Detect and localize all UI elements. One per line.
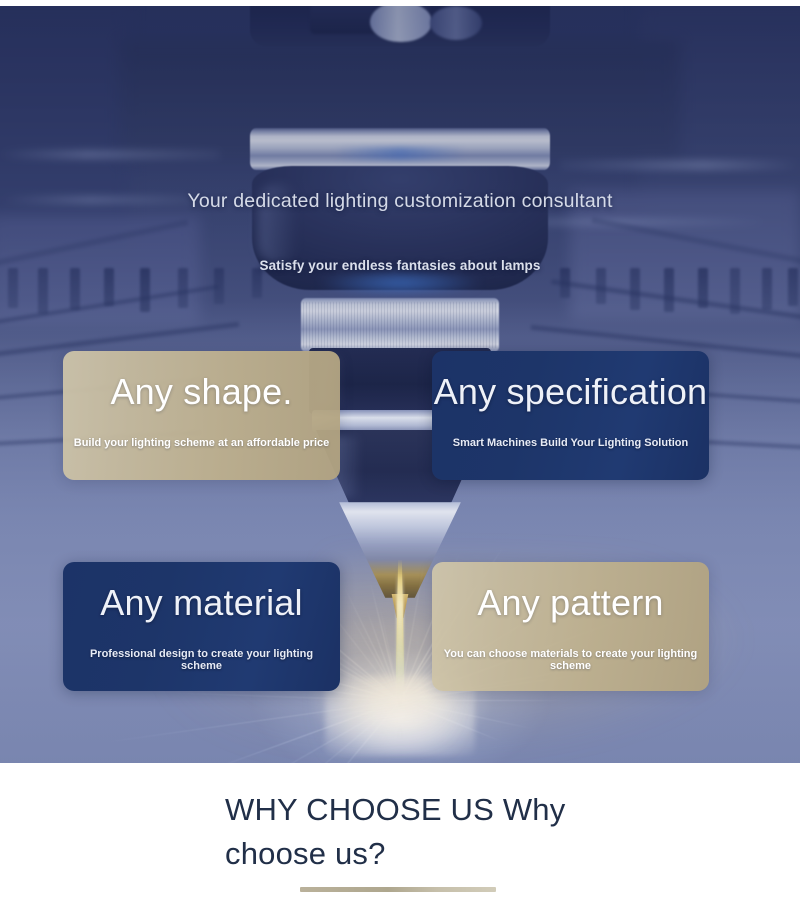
top-white-strip <box>0 0 800 6</box>
feature-card-desc: Professional design to create your light… <box>73 648 330 672</box>
page-root: Your dedicated lighting customization co… <box>0 0 800 900</box>
feature-card-title: Any shape. <box>63 374 340 410</box>
why-choose-us-heading: WHY CHOOSE US Why choose us? <box>225 788 645 876</box>
feature-card-grid: Any shape. Build your lighting scheme at… <box>0 0 800 763</box>
feature-card-any-shape[interactable]: Any shape. Build your lighting scheme at… <box>63 351 340 480</box>
feature-card-desc: Smart Machines Build Your Lighting Solut… <box>442 437 699 449</box>
feature-card-desc: You can choose materials to create your … <box>442 648 699 672</box>
section-divider-rule <box>300 887 496 892</box>
why-choose-us-section: WHY CHOOSE US Why choose us? <box>0 763 800 900</box>
feature-card-any-material[interactable]: Any material Professional design to crea… <box>63 562 340 691</box>
feature-card-desc: Build your lighting scheme at an afforda… <box>73 437 330 449</box>
feature-card-any-specification[interactable]: Any specification Smart Machines Build Y… <box>432 351 709 480</box>
feature-card-title: Any pattern <box>432 585 709 621</box>
feature-card-any-pattern[interactable]: Any pattern You can choose materials to … <box>432 562 709 691</box>
hero-banner: Your dedicated lighting customization co… <box>0 0 800 763</box>
feature-card-title: Any material <box>63 585 340 621</box>
feature-card-title: Any specification <box>432 374 709 410</box>
